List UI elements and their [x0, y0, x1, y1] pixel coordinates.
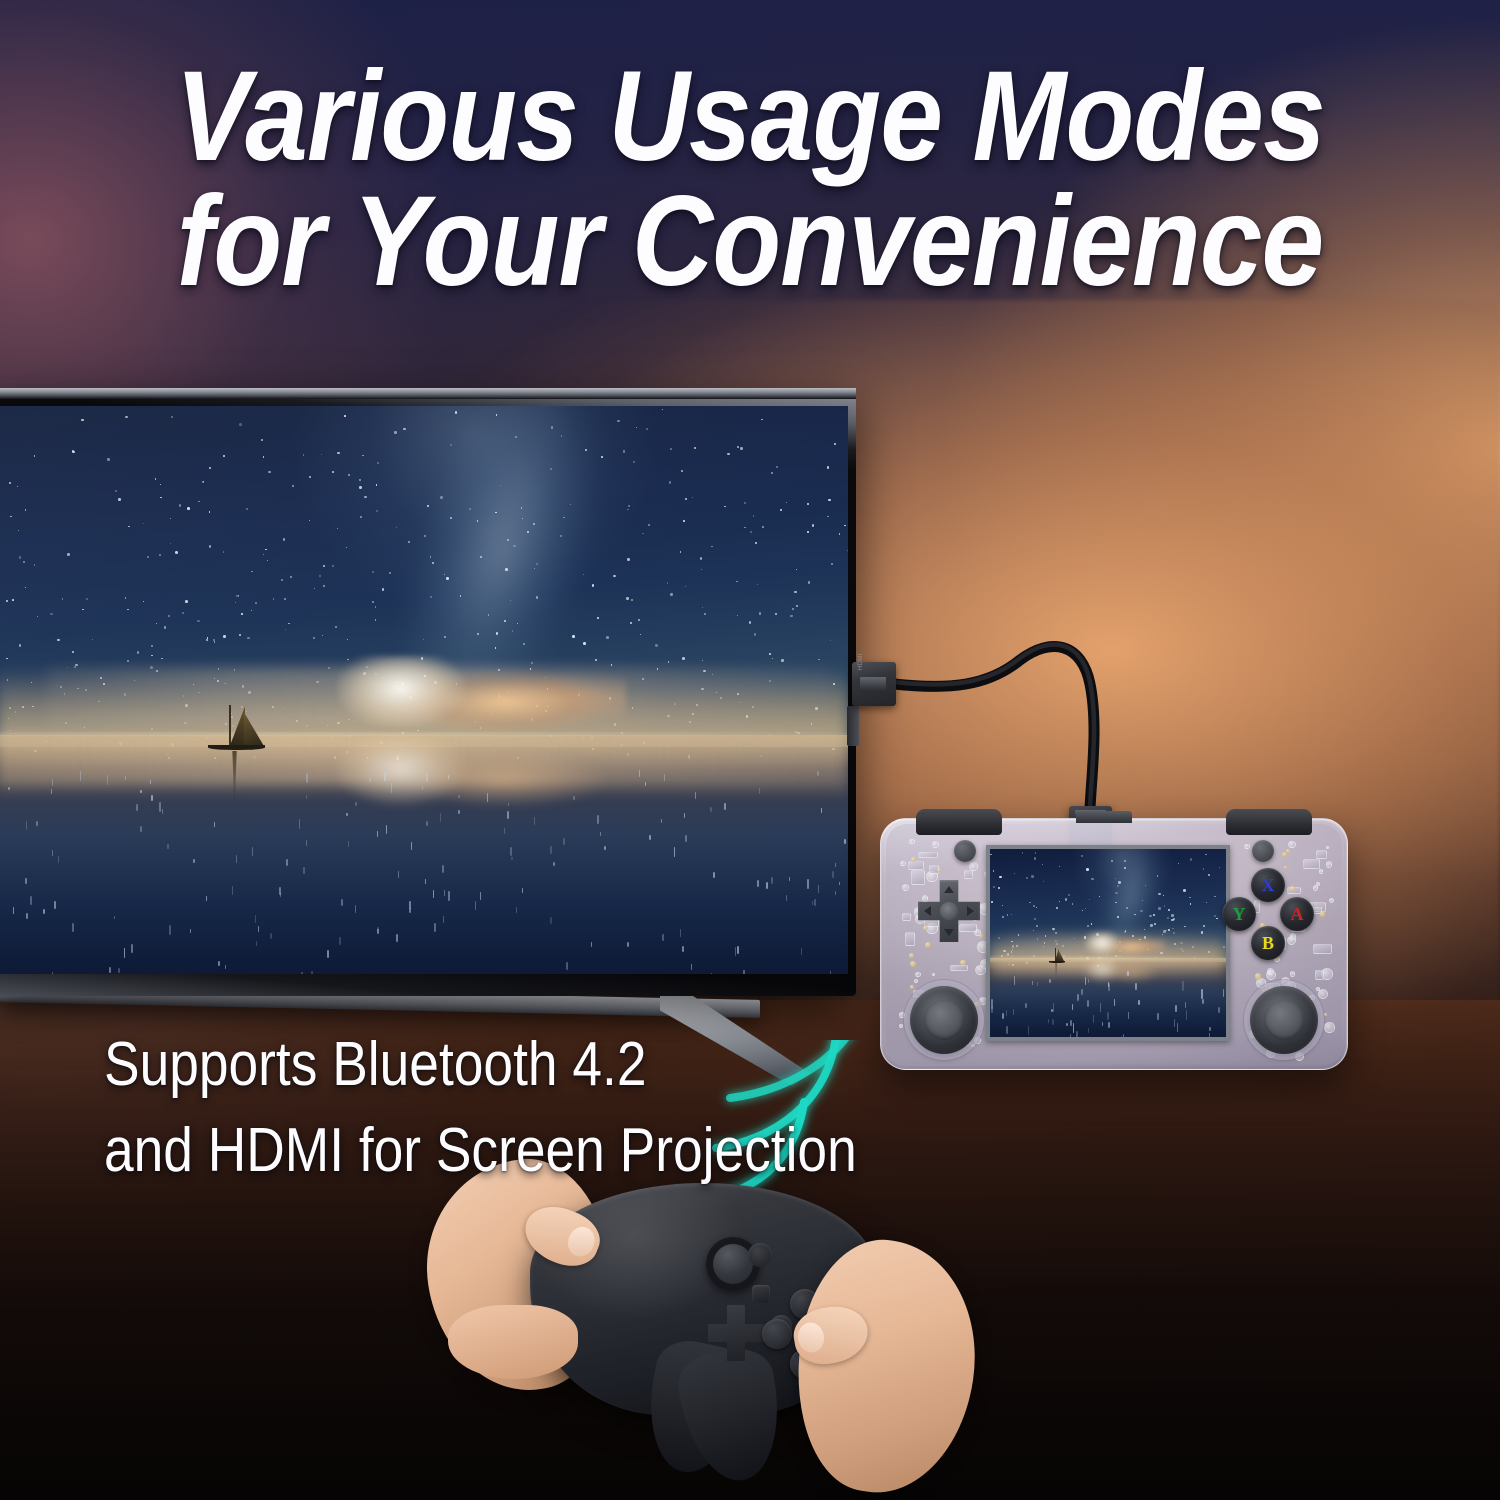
artwork-lit-cloud [337, 656, 627, 730]
sailboat-sail-back [1059, 950, 1065, 961]
console-dpad[interactable] [918, 880, 980, 942]
hdmi-plug-tv-label: HDMI [858, 653, 864, 670]
dpad-arrow-down-icon [944, 929, 954, 936]
tv-top-edge [0, 388, 856, 399]
console-button-b-label: B [1262, 934, 1274, 952]
console-button-y-label: Y [1233, 905, 1246, 923]
console-hdmi-port [1076, 811, 1132, 823]
console-screen [986, 845, 1230, 1041]
sailboat-hull [208, 745, 265, 751]
console-screen-artwork [990, 849, 1226, 1037]
sailboat-sail-front [230, 706, 245, 746]
artwork-sailboat [1045, 948, 1066, 965]
artwork-horizon-line [990, 957, 1226, 959]
console-button-b[interactable]: B [1251, 926, 1285, 960]
sailboat-mast [229, 705, 231, 747]
sailboat-sail-back [244, 712, 264, 746]
gamepad-button-y[interactable] [762, 1319, 792, 1349]
console-button-x-label: X [1262, 876, 1275, 894]
subtitle-line-2: and HDMI for Screen Projection [104, 1108, 964, 1194]
artwork-sailboat [196, 705, 273, 756]
television [0, 388, 856, 996]
console-shoulder-right[interactable] [1226, 809, 1312, 835]
sailboat-hull [1049, 961, 1065, 963]
artwork-lit-cloud [1084, 932, 1164, 956]
page-subtitle: Supports Bluetooth 4.2 and HDMI for Scre… [104, 1022, 964, 1193]
console-button-x[interactable]: X [1251, 868, 1285, 902]
page-headline: Various Usage Modes for Your Convenience [90, 54, 1410, 305]
handheld-gamepad-in-hands [420, 1155, 980, 1500]
console-button-a[interactable]: A [1280, 897, 1314, 931]
console-start-button[interactable] [1252, 840, 1274, 862]
left-fingers [448, 1305, 578, 1379]
console-button-y[interactable]: Y [1222, 897, 1256, 931]
gamepad-minus-button[interactable] [748, 1243, 772, 1267]
console-button-a-label: A [1291, 905, 1304, 923]
headline-line-1: Various Usage Modes [175, 45, 1325, 188]
tv-screen-artwork [0, 406, 848, 974]
hdmi-plug-tv-end: HDMI [852, 662, 896, 706]
console-analog-stick-right[interactable] [1250, 986, 1318, 1054]
console-select-button[interactable] [954, 840, 976, 862]
console-face-buttons: X Y A B [1222, 868, 1314, 960]
console-shoulder-left[interactable] [916, 809, 1002, 835]
dpad-arrow-right-icon [967, 906, 974, 916]
artwork-water-sparkles [0, 770, 848, 974]
headline-line-2: for Your Convenience [90, 179, 1410, 304]
subtitle-line-1: Supports Bluetooth 4.2 [104, 1022, 964, 1108]
artwork-water-sparkles [990, 969, 1226, 1037]
dpad-arrow-left-icon [924, 906, 931, 916]
tv-screen [0, 406, 848, 974]
product-feature-banner: HDMI HDMI [0, 0, 1500, 1500]
dpad-arrow-up-icon [944, 886, 954, 893]
artwork-horizon-line [0, 733, 848, 735]
